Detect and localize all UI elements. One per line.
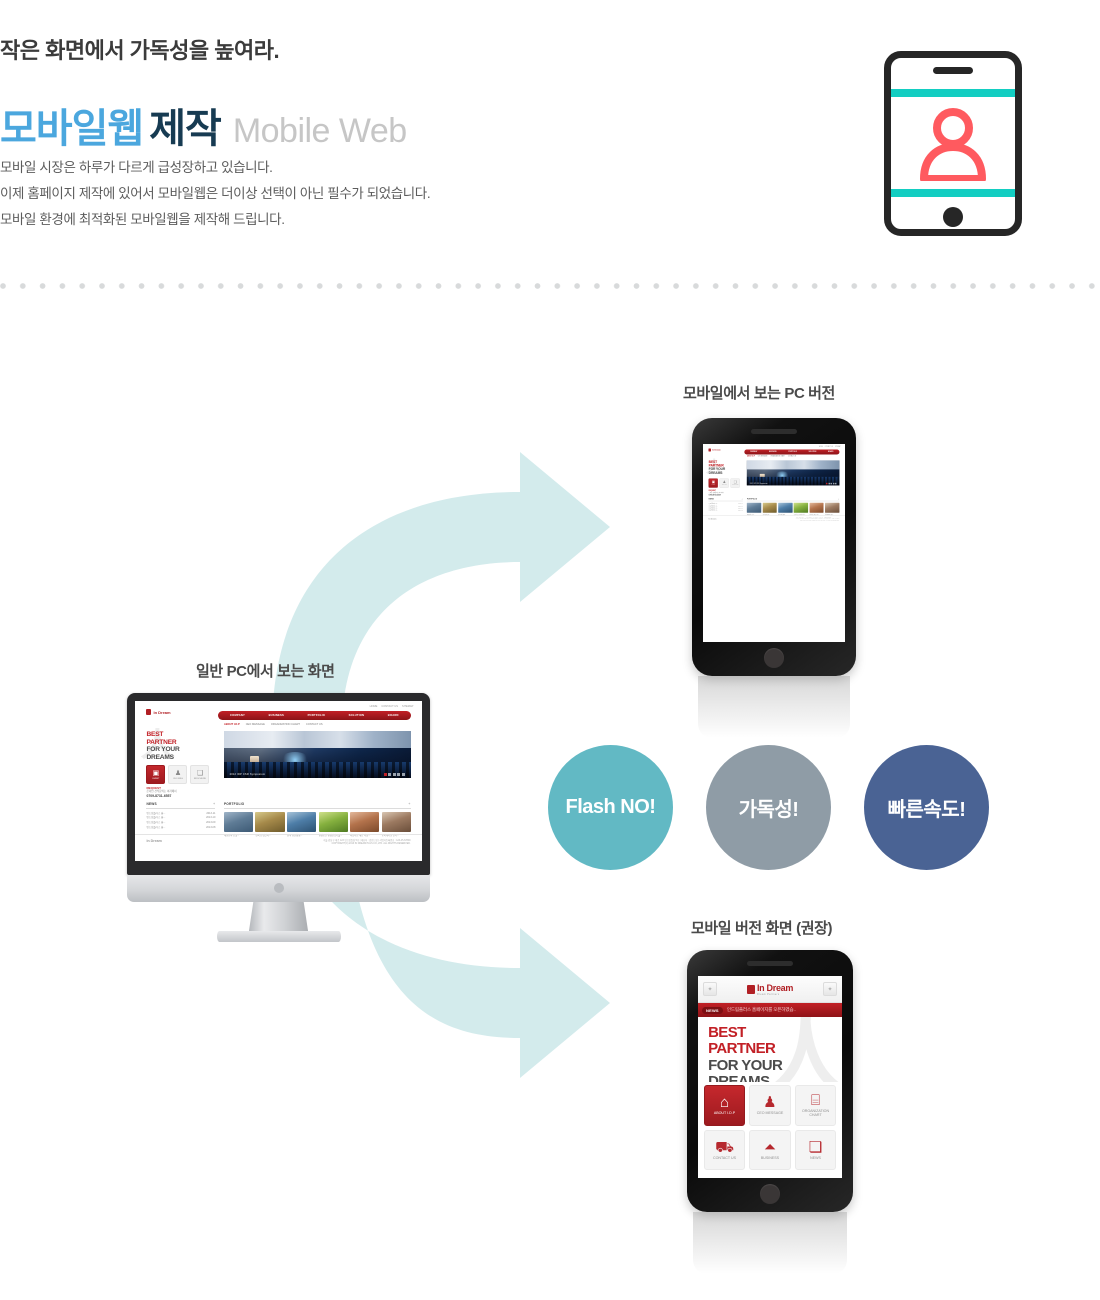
- nav-item-board[interactable]: BOARD: [388, 714, 399, 717]
- mobile-news-ticker[interactable]: NEWS 인드림플러스 홈페이지를 오픈하였습..: [698, 1003, 842, 1017]
- page-title-en: Mobile Web: [233, 112, 407, 150]
- feature-circle-speed[interactable]: 빠른속도!: [864, 745, 989, 870]
- news-tag-badge: NEWS: [702, 1007, 723, 1014]
- site-portfolio-section: PORTFOLIO + 대한민국 건설... 한국 산업단지...: [224, 802, 411, 838]
- site-logo-mark-icon: [146, 709, 151, 715]
- site-utility-nav[interactable]: HOME CONTACT US SITEMAP: [370, 705, 414, 708]
- portfolio-thumb: [255, 812, 284, 832]
- site-headline-line-2: PARTNER: [146, 739, 179, 746]
- nav-item-solution[interactable]: SOLUTION: [349, 714, 365, 717]
- site-request-block[interactable]: REQUEST 온라인 견적문의는 여기에서 0709-8731-6557: [146, 786, 176, 800]
- nav-item-company[interactable]: COMPANY: [750, 451, 757, 452]
- portfolio-item[interactable]: 동국대학교 산학...: [825, 503, 839, 516]
- feature-circle-flash[interactable]: Flash NO!: [548, 745, 673, 870]
- page-title: 모바일웹제작Mobile Web: [0, 109, 407, 149]
- site-hero-slider[interactable]: 2012 IDP CSR Symposium: [747, 460, 839, 485]
- menu-left-button[interactable]: ✦: [703, 982, 717, 996]
- feature-circles: Flash NO! 가독성! 빠른속도!: [548, 745, 988, 870]
- mobile-site-logo[interactable]: In Dream Dream Partners: [747, 983, 793, 996]
- mobile-headline-line-2: PARTNER: [708, 1041, 782, 1057]
- util-link-contact[interactable]: CONTACT US: [825, 446, 833, 447]
- news-row[interactable]: 인드림플러스 홈... 2013-08: [146, 826, 215, 831]
- phone-home-button-icon: [943, 207, 963, 227]
- portfolio-item[interactable]: 환경공단 환경산업기술...: [794, 503, 808, 516]
- util-link-home[interactable]: HOME: [819, 446, 823, 447]
- imac-screen: HOME CONTACT US SITEMAP In Dream COMPANY…: [135, 701, 422, 861]
- quick-item-event-label: EVENT: [712, 484, 715, 485]
- news-row-date: 2013-08: [738, 510, 743, 512]
- phone-speaker-icon: [933, 67, 973, 74]
- nav-item-board[interactable]: BOARD: [828, 451, 833, 452]
- quick-item-brochure[interactable]: ❑ BROCHURE: [731, 478, 740, 487]
- car-icon: ⛟: [715, 1140, 734, 1155]
- device-reflection: [693, 1212, 847, 1274]
- portfolio-thumb: [763, 503, 777, 513]
- header-description: 모바일 시장은 하루가 다르게 급성장하고 있습니다. 이제 홈페이지 제작에 …: [0, 155, 430, 233]
- slider-dot-2[interactable]: [388, 773, 391, 776]
- news-row[interactable]: 인드림플러스 홈... 2013-08: [709, 510, 743, 512]
- hero-slider-dots[interactable]: [826, 483, 836, 484]
- site-footer: In Dream 서울 강남구 대로 123 인드림빌딩 5층 | 대표자 : …: [703, 515, 845, 527]
- util-link-sitemap[interactable]: SITEMAP: [402, 705, 413, 708]
- device-reflection: [698, 676, 850, 738]
- tile-contact-us[interactable]: ⛟ CONTACT US: [704, 1130, 746, 1170]
- site-logo[interactable]: In Dream: [146, 709, 170, 715]
- mobile-site-header: ✦ In Dream Dream Partners ✦: [698, 976, 842, 1003]
- tile-business-label: BUSINESS: [761, 1156, 779, 1160]
- portfolio-thumb: [287, 812, 316, 832]
- phone-screen-pc-version[interactable]: HOME CONTACT US SITEMAP In Dream COMPANY…: [703, 444, 845, 642]
- ladder-icon: ⌸: [811, 1093, 820, 1108]
- mobile-hero-headline: BEST PARTNER FOR YOUR DREAMS: [708, 1025, 782, 1082]
- tile-ceo-message-label: CEO MESSAGE: [757, 1111, 784, 1115]
- news-more-icon[interactable]: +: [213, 802, 215, 806]
- event-icon: ▣: [712, 481, 715, 484]
- slider-dot-5[interactable]: [835, 483, 836, 484]
- quick-item-event-label: EVENT: [153, 778, 160, 780]
- phone-home-button[interactable]: [764, 648, 784, 668]
- subnav-item-contact[interactable]: CONTACT US: [788, 456, 796, 457]
- mobile-headline-line-4: DREAMS: [708, 1074, 782, 1082]
- site-quick-menu[interactable]: ▣ EVENT ♟ CEO MSG ❑ BROCHURE: [146, 765, 209, 784]
- tile-about-idp[interactable]: ⌂ ABOUT I.D.P: [704, 1085, 746, 1125]
- tile-contact-us-label: CONTACT US: [713, 1156, 736, 1160]
- quick-item-event[interactable]: ▣ EVENT: [146, 765, 165, 784]
- site-main-nav[interactable]: COMPANY BUSINESS PORTFOLIO SOLUTION BOAR…: [218, 711, 410, 720]
- util-link-contact[interactable]: CONTACT US: [381, 705, 398, 708]
- quick-item-brochure-label: BROCHURE: [194, 778, 206, 780]
- tile-ceo-message[interactable]: ♟ CEO MESSAGE: [749, 1085, 791, 1125]
- quick-item-event[interactable]: ▣ EVENT: [709, 478, 718, 487]
- quick-item-ceo[interactable]: ♟ CEO MSG: [168, 765, 187, 784]
- site-quick-menu[interactable]: ▣ EVENT ♟ CEO MSG ❑ BROCHURE: [709, 478, 740, 487]
- feature-circle-flash-label: Flash NO!: [566, 796, 656, 819]
- portfolio-section-title: PORTFOLIO +: [224, 802, 411, 809]
- site-logo-text: In Dream: [712, 449, 721, 451]
- tile-news-label: NEWS: [810, 1156, 821, 1160]
- nav-item-solution[interactable]: SOLUTION: [809, 451, 817, 452]
- mobile-website-mock: ✦ In Dream Dream Partners ✦ NEWS 인드림플러스 …: [698, 976, 842, 1178]
- cone-icon: ⏶: [764, 1140, 776, 1155]
- site-sub-nav[interactable]: ABOUT I.D.P CEO MESSAGE ORGANIZATION CHA…: [224, 723, 396, 726]
- site-request-block[interactable]: REQUEST 온라인 견적문의는 여기에서 0709-8731-6557: [709, 489, 724, 496]
- page-title-blue: 모바일웹: [0, 107, 143, 151]
- portfolio-title-text: PORTFOLIO: [224, 802, 244, 806]
- quick-item-ceo[interactable]: ♟ CEO MSG: [720, 478, 729, 487]
- site-headline: BEST PARTNER FOR YOUR DREAMS: [146, 731, 179, 761]
- hero-caption: 2012 IDP CSR Symposium: [230, 773, 266, 776]
- footer-info: 서울 강남구 대로 123 인드림빌딩 5층 | 대표자 : 김인드림 | 사업…: [796, 518, 839, 521]
- header-description-line-3: 모바일 환경에 최적화된 모바일웹을 제작해 드립니다.: [0, 207, 430, 233]
- portfolio-item[interactable]: 한국 표준협회...: [778, 503, 792, 516]
- news-ticker-text: 인드림플러스 홈페이지를 오픈하였습..: [727, 1007, 796, 1013]
- portfolio-thumb: [825, 503, 839, 513]
- imac-bezel: HOME CONTACT US SITEMAP In Dream COMPANY…: [127, 693, 430, 875]
- slider-dot-3[interactable]: [393, 773, 396, 776]
- news-row-text: 인드림플러스 홈...: [709, 510, 718, 512]
- person-icon: ♟: [723, 481, 726, 484]
- portfolio-more-icon[interactable]: +: [838, 498, 839, 500]
- imac-logo-icon: [274, 883, 284, 893]
- footer-info: 서울 강남구 대로 123 인드림빌딩 5층 | 대표자 : 김인드림 | 사업…: [323, 840, 410, 847]
- site-logo-mark-icon: [709, 448, 711, 451]
- quick-item-ceo-label: CEO MSG: [722, 484, 727, 485]
- subnav-item-about[interactable]: ABOUT I.D.P: [224, 723, 240, 726]
- phone-device-pc-version: HOME CONTACT US SITEMAP In Dream COMPANY…: [692, 418, 856, 676]
- tile-news[interactable]: ❏ NEWS: [795, 1130, 837, 1170]
- site-headline: BEST PARTNER FOR YOUR DREAMS: [709, 460, 725, 475]
- site-headline-line-4: DREAMS: [146, 754, 179, 761]
- request-phone: 0709-8731-6557: [709, 494, 724, 497]
- tile-about-idp-label: ABOUT I.D.P: [714, 1111, 735, 1115]
- site-portfolio-section: PORTFOLIO + 대한민국 건설... 한국 산업단지...: [747, 498, 839, 516]
- slider-dot-4[interactable]: [397, 773, 400, 776]
- nav-item-portfolio[interactable]: PORTFOLIO: [788, 451, 797, 452]
- phone-speaker-icon: [747, 961, 793, 966]
- portfolio-thumb: [809, 503, 823, 513]
- portfolio-item[interactable]: 아름다운 재단 나눔...: [809, 503, 823, 516]
- mobile-menu-tiles: ⌂ ABOUT I.D.P ♟ CEO MESSAGE ⌸ ORGANIZATI…: [704, 1085, 837, 1170]
- tile-business[interactable]: ⏶ BUSINESS: [749, 1130, 791, 1170]
- news-section-title: NEWS +: [146, 802, 215, 809]
- portfolio-thumb: [382, 812, 411, 832]
- site-utility-nav[interactable]: HOME CONTACT US SITEMAP: [819, 446, 841, 447]
- menu-right-button[interactable]: ✦: [823, 982, 837, 996]
- news-title-text: NEWS: [146, 802, 156, 806]
- request-phone: 0709-8731-6557: [146, 794, 176, 799]
- nav-item-portfolio[interactable]: PORTFOLIO: [308, 714, 325, 717]
- subnav-item-org[interactable]: ORGANIZATION CHART: [271, 723, 300, 726]
- event-icon: ▣: [153, 770, 160, 777]
- portfolio-more-icon[interactable]: +: [408, 802, 410, 806]
- feature-circle-readability[interactable]: 가독성!: [706, 745, 831, 870]
- news-row-date: 2013-08: [206, 826, 215, 831]
- home-icon: ⌂: [720, 1095, 729, 1110]
- site-news-section: NEWS + 인드림플러스 홈... 2013-11 인드림플러스 홈... 2…: [146, 802, 215, 831]
- site-main-nav[interactable]: COMPANY BUSINESS PORTFOLIO SOLUTION BOAR…: [744, 450, 839, 455]
- portfolio-item[interactable]: 한국 산업단지...: [763, 503, 777, 516]
- header-section: 작은 화면에서 가독성을 높여라. 모바일웹제작Mobile Web 모바일 시…: [0, 0, 1100, 300]
- subnav-item-org[interactable]: ORGANIZATION CHART: [770, 456, 785, 457]
- pc-website-mock: HOME CONTACT US SITEMAP In Dream COMPANY…: [135, 701, 422, 861]
- portfolio-thumb: [794, 503, 808, 513]
- portfolio-section-title: PORTFOLIO +: [747, 498, 839, 501]
- mobile-headline-line-1: BEST: [708, 1025, 782, 1041]
- portfolio-item[interactable]: 대한민국 건설...: [747, 503, 761, 516]
- portfolio-thumb: [350, 812, 379, 832]
- news-title-text: NEWS: [709, 498, 714, 500]
- subnav-item-ceo[interactable]: CEO MESSAGE: [758, 456, 768, 457]
- site-headline-line-4: DREAMS: [709, 471, 725, 475]
- imac-device: HOME CONTACT US SITEMAP In Dream COMPANY…: [127, 693, 430, 938]
- site-headline-line-3: FOR YOUR: [146, 746, 179, 753]
- hero-caption: 2012 IDP CSR Symposium: [750, 483, 768, 484]
- pc-website-mock-shrunk: HOME CONTACT US SITEMAP In Dream COMPANY…: [703, 444, 845, 530]
- header-description-line-2: 이제 홈페이지 제작에 있어서 모바일웹은 더이상 선택이 아닌 필수가 되었습…: [0, 181, 430, 207]
- site-sub-nav[interactable]: ABOUT I.D.P CEO MESSAGE ORGANIZATION CHA…: [747, 456, 832, 457]
- mobile-site-logo-text: In Dream: [757, 983, 793, 993]
- nav-item-business[interactable]: BUSINESS: [769, 451, 777, 452]
- phone-band-top: [891, 89, 1015, 97]
- util-link-home[interactable]: HOME: [370, 705, 378, 708]
- feature-circle-speed-label: 빠른속도!: [888, 793, 966, 822]
- site-hero-slider[interactable]: 2012 IDP CSR Symposium: [224, 731, 411, 777]
- portfolio-thumb: [319, 812, 348, 832]
- nav-item-business[interactable]: BUSINESS: [269, 714, 284, 717]
- portfolio-thumb: [747, 503, 761, 513]
- quick-item-ceo-label: CEO MSG: [173, 778, 183, 780]
- news-more-icon[interactable]: +: [742, 498, 743, 500]
- site-news-section: NEWS + 인드림플러스 홈... 2013-11 인드림플러스 홈... 2…: [709, 498, 743, 512]
- portfolio-grid: 대한민국 건설... 한국 산업단지... 한국 표준협회... 환경: [747, 503, 839, 516]
- phone-device-mobile-version: ✦ In Dream Dream Partners ✦ NEWS 인드림플러스 …: [687, 950, 853, 1212]
- site-headline-line-1: BEST: [146, 731, 179, 738]
- hero-top-strip: [224, 731, 411, 748]
- mobile-site-logo-sub: Dream Partners: [757, 993, 793, 996]
- site-footer: In Dream 서울 강남구 대로 123 인드림빌딩 5층 | 대표자 : …: [135, 834, 422, 857]
- person-icon: ♟: [175, 770, 181, 777]
- mobile-hero: 人 BEST PARTNER FOR YOUR DREAMS: [698, 1017, 842, 1082]
- subnav-item-about[interactable]: ABOUT I.D.P: [747, 456, 755, 457]
- brochure-icon: ❑: [734, 481, 737, 484]
- footer-info-line-2: COPYRIGHT(C) 2013 IN DREAM PLUS CO.,LTD.…: [796, 520, 839, 522]
- footer-logo: In Dream: [709, 518, 717, 520]
- mobile-pc-view-label: 모바일에서 보는 PC 버전: [683, 382, 835, 403]
- person-icon: ♟: [763, 1095, 776, 1110]
- site-logo[interactable]: In Dream: [709, 448, 721, 451]
- subnav-item-contact[interactable]: CONTACT US: [306, 723, 323, 726]
- phone-speaker-icon: [751, 429, 797, 434]
- mobile-phone-user-icon: [884, 51, 1022, 236]
- portfolio-title-text: PORTFOLIO: [747, 498, 757, 500]
- user-person-icon: [918, 107, 988, 181]
- phone-band-bottom: [891, 189, 1015, 197]
- dotted-divider: [0, 283, 1100, 289]
- phone-screen-mobile-version[interactable]: ✦ In Dream Dream Partners ✦ NEWS 인드림플러스 …: [698, 976, 842, 1178]
- mobile-version-label: 모바일 버전 화면 (권장): [691, 917, 832, 938]
- slider-dot-5[interactable]: [402, 773, 405, 776]
- header-kicker: 작은 화면에서 가독성을 높여라.: [0, 33, 279, 65]
- page-title-dark: 제작: [149, 107, 221, 151]
- arrow-up-right: [272, 452, 610, 730]
- pc-screen-label: 일반 PC에서 보는 화면: [196, 660, 335, 681]
- footer-logo: In Dream: [146, 839, 161, 843]
- nav-item-company[interactable]: COMPANY: [230, 714, 245, 717]
- portfolio-thumb: [224, 812, 253, 832]
- news-section-title: NEWS +: [709, 498, 743, 501]
- footer-info-line-2: COPYRIGHT(C) 2013 IN DREAM PLUS CO.,LTD.…: [323, 843, 410, 846]
- tile-organization-chart[interactable]: ⌸ ORGANIZATION CHART: [795, 1085, 837, 1125]
- site-logo-mark-icon: [747, 985, 755, 994]
- hero-top-strip: [747, 460, 839, 469]
- quick-item-brochure-label: BROCHURE: [732, 484, 738, 485]
- imac-stand-base: [217, 931, 341, 942]
- brochure-icon: ❑: [197, 770, 203, 777]
- quick-item-brochure[interactable]: ❑ BROCHURE: [190, 765, 209, 784]
- tile-organization-chart-label: ORGANIZATION CHART: [798, 1109, 834, 1117]
- mobile-headline-line-3: FOR YOUR: [708, 1058, 782, 1074]
- slider-dot-1[interactable]: [384, 773, 387, 776]
- site-logo-text: In Dream: [153, 710, 170, 715]
- document-icon: ❏: [809, 1140, 822, 1155]
- util-link-sitemap[interactable]: SITEMAP: [835, 446, 841, 447]
- news-row-text: 인드림플러스 홈...: [146, 826, 165, 831]
- feature-circle-readability-label: 가독성!: [739, 793, 799, 822]
- phone-home-button[interactable]: [760, 1184, 780, 1204]
- subnav-item-ceo[interactable]: CEO MESSAGE: [246, 723, 265, 726]
- hero-slider-dots[interactable]: [384, 773, 405, 776]
- imac-stand-neck: [249, 902, 309, 934]
- header-description-line-1: 모바일 시장은 하루가 다르게 급성장하고 있습니다.: [0, 155, 430, 181]
- portfolio-thumb: [778, 503, 792, 513]
